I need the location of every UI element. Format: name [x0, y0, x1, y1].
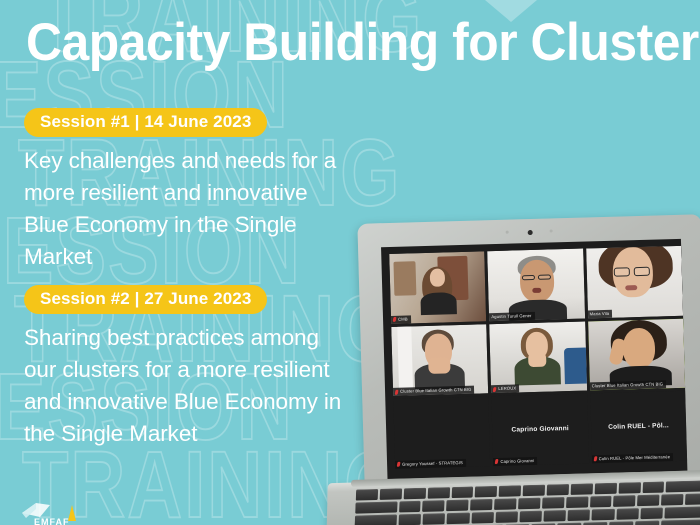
participant-name: Gregory Youssef - STRATEGIS [402, 459, 463, 469]
participant-display-name: Colin RUEL - Pôl... [591, 422, 687, 432]
video-tile[interactable]: Gregory Youssef - STRATEGIS [393, 397, 490, 469]
participant-nametag: Colin RUEL - Pôle Mer Méditerranée [592, 453, 674, 463]
participant-nametag: LEROUX [491, 385, 519, 394]
participant-nametag: CMB [391, 315, 411, 324]
participant-name: Cluster Blue Italian Growth CTN BIG [400, 386, 472, 396]
logo-text: EMFAF [34, 517, 70, 525]
participant-name: Cluster Blue Italian Growth CTN BIG [592, 381, 664, 391]
sensor-dot-icon [550, 229, 553, 232]
participant-video [490, 321, 587, 393]
participant-display-name: Caprino Giovanni [492, 424, 587, 434]
mic-muted-icon [495, 459, 499, 464]
participant-video [586, 246, 683, 318]
video-tile[interactable]: Cluster Blue Italian Growth CTN BIG [391, 324, 488, 396]
laptop-lid: CMB Agustin Turull Gener [357, 214, 700, 488]
video-tile[interactable]: Colin RUEL - Pôl... Colin RUEL - Pôle Me… [590, 391, 687, 463]
mic-muted-icon [397, 462, 401, 467]
laptop-mockup: CMB Agustin Turull Gener [349, 213, 700, 525]
laptop-screen: CMB Agustin Turull Gener [381, 239, 687, 479]
session-block-1: Session #1 | 14 June 2023 Key challenges… [24, 108, 354, 273]
session-2-description: Sharing best practices among our cluster… [24, 322, 354, 450]
video-tile[interactable]: Caprino Giovanni Caprino Giovanni [492, 394, 589, 466]
participant-video [588, 318, 685, 390]
video-tile[interactable]: LEROUX [490, 321, 587, 393]
video-tile-active-speaker[interactable]: Cluster Blue Italian Growth CTN BIG [588, 318, 685, 390]
video-tile[interactable]: Agustin Turull Gener [488, 249, 585, 321]
mic-muted-icon [493, 387, 497, 392]
participant-name: Maria Vila [590, 310, 610, 319]
participant-nametag: Agustin Turull Gener [489, 312, 534, 321]
participant-video [488, 249, 585, 321]
participant-name: Colin RUEL - Pôle Mer Méditerranée [599, 453, 671, 463]
webcam-icon [527, 230, 532, 235]
mic-muted-icon [593, 457, 597, 462]
video-tile[interactable]: Maria Vila [586, 246, 683, 318]
mic-muted-icon [395, 390, 399, 395]
participant-nametag: Cluster Blue Italian Growth CTN BIG [393, 386, 475, 396]
mic-muted-icon [393, 317, 397, 322]
page-title: Capacity Building for Clusters [26, 16, 700, 69]
session-1-badge: Session #1 | 14 June 2023 [24, 108, 267, 137]
session-block-2: Session #2 | 27 June 2023 Sharing best p… [24, 285, 354, 450]
session-1-description: Key challenges and needs for a more resi… [24, 145, 354, 273]
organisation-logo: EMFAF [20, 497, 116, 525]
participant-nametag: Caprino Giovanni [493, 457, 537, 466]
participant-nametag: Maria Vila [588, 309, 613, 318]
video-call-grid: CMB Agustin Turull Gener [389, 246, 687, 469]
participant-name: LEROUX [498, 385, 516, 393]
sensor-dot-icon [506, 231, 509, 234]
participant-name: Caprino Giovanni [500, 457, 534, 466]
session-2-badge: Session #2 | 27 June 2023 [24, 285, 267, 314]
participant-nametag: Cluster Blue Italian Growth CTN BIG [590, 381, 667, 391]
participant-name: CMB [398, 315, 408, 323]
participant-nametag: Gregory Youssef - STRATEGIS [395, 459, 466, 469]
participant-name: Agustin Turull Gener [491, 312, 531, 321]
video-tile[interactable]: CMB [389, 251, 486, 323]
participant-video [389, 251, 486, 323]
